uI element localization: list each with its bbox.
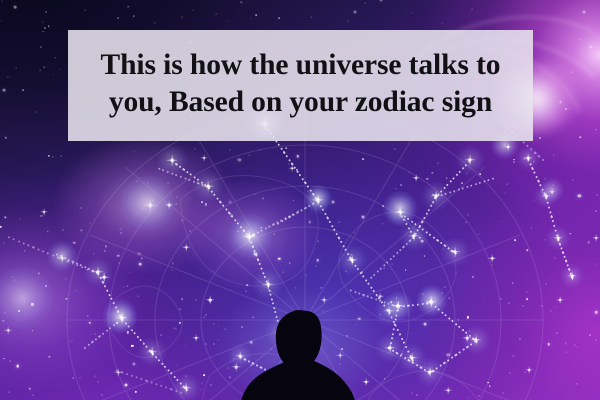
- star-dot: [175, 329, 176, 330]
- star-sparkle: [164, 200, 174, 210]
- star-glow: [384, 292, 413, 321]
- star-dot: [471, 9, 472, 10]
- star-dot: [447, 353, 450, 356]
- star-dot: [62, 230, 63, 231]
- star-dot: [455, 272, 456, 273]
- star-dot: [396, 297, 398, 299]
- star-sparkle: [205, 295, 215, 305]
- star-dot: [472, 276, 474, 278]
- constellation-line: [389, 348, 430, 374]
- title-card-overlay: This is how the universe talks to you, B…: [68, 30, 533, 141]
- star-sparkle: [541, 191, 551, 201]
- star-glow: [417, 288, 446, 317]
- star-dot: [4, 243, 5, 244]
- star-glow: [417, 285, 447, 315]
- star-dot: [384, 267, 385, 268]
- star-dot: [501, 221, 502, 222]
- star-sparkle: [553, 233, 563, 243]
- star-dot: [201, 389, 202, 390]
- star-dot: [540, 113, 541, 114]
- star-sparkle: [525, 366, 533, 374]
- star-dot: [238, 158, 241, 161]
- star-dot: [137, 180, 138, 181]
- star-dot: [5, 313, 6, 314]
- star-dot: [379, 314, 380, 315]
- star-dot: [180, 308, 181, 309]
- star-dot: [104, 250, 106, 252]
- star-dot: [126, 285, 127, 286]
- star-glow: [138, 338, 167, 367]
- star-dot: [467, 215, 468, 216]
- star-dot: [468, 398, 469, 399]
- star-dot: [479, 395, 480, 396]
- star-dot: [250, 341, 253, 344]
- star-dot: [503, 392, 504, 393]
- star-dot: [416, 394, 418, 396]
- star-sparkle: [312, 194, 324, 206]
- star-dot: [541, 305, 542, 306]
- star-dot: [253, 317, 254, 318]
- star-dot: [181, 220, 182, 221]
- star-dot: [579, 137, 580, 138]
- star-glow: [228, 214, 272, 258]
- star-dot: [341, 348, 343, 350]
- star-glow: [400, 222, 429, 251]
- star-dot: [247, 284, 249, 286]
- star-dot: [40, 215, 42, 217]
- star-sparkle: [339, 393, 349, 400]
- star-dot: [134, 151, 135, 152]
- star-dot: [7, 77, 8, 78]
- star-dot: [578, 194, 581, 197]
- star-dot: [127, 6, 129, 8]
- star-dot: [346, 335, 348, 337]
- star-dot: [570, 107, 571, 108]
- star-dot: [254, 252, 257, 255]
- constellation-line: [435, 160, 470, 197]
- star-dot: [595, 210, 597, 212]
- star-sparkle: [392, 300, 404, 312]
- star-dot: [582, 10, 585, 13]
- star-dot: [116, 322, 118, 324]
- star-dot: [240, 2, 241, 3]
- star-glow: [546, 226, 570, 250]
- star-sparkle: [200, 154, 208, 162]
- star-dot: [205, 203, 207, 205]
- star-dot: [302, 334, 304, 336]
- star-sparkle: [57, 253, 68, 264]
- star-dot: [230, 149, 231, 150]
- star-sparkle: [289, 165, 296, 172]
- star-dot: [589, 46, 592, 49]
- star-dot: [308, 221, 311, 224]
- star-dot: [248, 154, 249, 155]
- star-dot: [48, 25, 50, 27]
- star-dot: [508, 303, 509, 304]
- star-sparkle: [408, 230, 420, 242]
- star-dot: [310, 314, 311, 315]
- star-dot: [351, 254, 352, 255]
- star-dot: [361, 271, 363, 273]
- star-dot: [238, 230, 239, 231]
- star-glow: [252, 268, 283, 299]
- star-dot: [12, 276, 13, 277]
- star-dot: [29, 387, 31, 389]
- star-sparkle: [346, 254, 358, 266]
- star-dot: [526, 292, 527, 293]
- star-dot: [172, 270, 173, 271]
- star-dot: [176, 365, 177, 366]
- star-sparkle: [470, 334, 482, 346]
- star-dot: [595, 311, 598, 314]
- star-dot: [469, 330, 471, 332]
- star-sparkle: [444, 386, 453, 395]
- star-dot: [147, 182, 148, 183]
- star-glow: [376, 334, 405, 363]
- star-dot: [195, 299, 196, 300]
- star-dot: [10, 361, 11, 362]
- star-dot: [296, 155, 299, 158]
- star-sparkle: [406, 352, 418, 364]
- star-glow: [304, 186, 333, 215]
- star-dot: [117, 255, 119, 257]
- star-dot: [246, 291, 247, 292]
- star-dot: [571, 71, 573, 73]
- star-dot: [587, 241, 589, 243]
- star-dot: [210, 385, 211, 386]
- star-dot: [66, 298, 67, 299]
- star-glow: [540, 178, 564, 202]
- star-dot: [31, 303, 33, 305]
- star-dot: [73, 242, 76, 245]
- star-dot: [380, 0, 383, 2]
- star-dot: [263, 390, 265, 392]
- star-dot: [189, 231, 190, 232]
- star-dot: [45, 11, 47, 13]
- star-dot: [433, 194, 435, 196]
- star-dot: [310, 17, 311, 18]
- constellation-line: [280, 333, 297, 382]
- star-dot: [550, 311, 551, 312]
- star-dot: [3, 88, 6, 91]
- star-dot: [394, 290, 395, 291]
- constellation-line: [240, 356, 293, 384]
- constellation-line: [351, 260, 390, 312]
- star-glow: [422, 182, 451, 211]
- star-dot: [126, 331, 128, 333]
- star-dot: [295, 287, 296, 288]
- star-sparkle: [425, 296, 437, 308]
- star-dot: [358, 317, 360, 319]
- star-glow: [47, 241, 77, 271]
- star-sparkle: [243, 230, 256, 243]
- star-dot: [185, 344, 186, 345]
- star-sparkle: [114, 368, 123, 377]
- star-dot: [47, 231, 48, 232]
- star-dot: [519, 338, 520, 339]
- star-dot: [66, 279, 67, 280]
- star-dot: [322, 310, 323, 311]
- star-sparkle: [92, 266, 104, 278]
- star-sparkle: [116, 312, 128, 324]
- star-dot: [229, 201, 232, 204]
- star-dot: [411, 12, 412, 13]
- constellation-line: [430, 302, 476, 342]
- star-dot: [4, 137, 6, 139]
- star-dot: [597, 194, 598, 195]
- star-sparkle: [567, 271, 577, 281]
- star-dot: [354, 231, 355, 232]
- star-glow: [233, 220, 264, 251]
- star-dot: [438, 163, 439, 164]
- star-sparkle: [313, 195, 324, 206]
- star-dot: [348, 21, 349, 22]
- star-dot: [203, 317, 204, 318]
- star-dot: [241, 326, 243, 328]
- constellation-line: [398, 302, 431, 308]
- star-dot: [317, 259, 320, 262]
- star-dot: [133, 15, 134, 16]
- star-dot: [533, 200, 534, 201]
- star-dot: [118, 263, 119, 264]
- star-glow: [375, 297, 404, 326]
- constellation-line: [388, 312, 413, 360]
- constellation-line: [249, 214, 293, 238]
- star-dot: [138, 252, 142, 256]
- star-dot: [81, 230, 82, 231]
- star-dot: [321, 287, 322, 288]
- star-dot: [569, 233, 571, 235]
- star-dot: [216, 13, 217, 14]
- constellation-line: [267, 285, 282, 334]
- star-sparkle: [348, 256, 357, 265]
- star-sparkle: [548, 188, 556, 196]
- star-dot: [426, 177, 428, 179]
- star-dot: [442, 23, 443, 24]
- star-dot: [565, 342, 566, 343]
- star-dot: [32, 395, 33, 396]
- star-dot: [364, 2, 365, 3]
- star-dot: [124, 287, 125, 288]
- star-dot: [131, 345, 133, 347]
- star-dot: [201, 201, 203, 203]
- star-dot: [32, 330, 34, 332]
- star-dot: [38, 273, 39, 274]
- star-sparkle: [362, 378, 370, 386]
- constellation-line: [58, 254, 99, 274]
- star-dot: [186, 376, 187, 377]
- star-dot: [432, 172, 433, 173]
- star-glow: [384, 292, 413, 321]
- star-dot: [195, 148, 196, 149]
- star-dot: [409, 172, 410, 173]
- star-dot: [291, 381, 294, 384]
- star-dot: [143, 341, 144, 342]
- star-dot: [139, 263, 142, 266]
- constellation-line: [207, 186, 250, 237]
- constellation-line: [171, 160, 208, 188]
- star-dot: [565, 351, 566, 352]
- star-sparkle: [425, 296, 437, 308]
- star-dot: [205, 344, 206, 345]
- star-glow: [103, 299, 137, 333]
- star-dot: [121, 209, 122, 210]
- star-dot: [250, 364, 252, 366]
- star-dot: [52, 156, 53, 157]
- star-glow: [265, 316, 296, 347]
- star-dot: [340, 363, 341, 364]
- star-dot: [339, 221, 340, 222]
- star-dot: [15, 68, 16, 69]
- star-sparkle: [180, 382, 192, 394]
- constellation-line: [151, 352, 186, 389]
- star-dot: [574, 344, 575, 345]
- star-dot: [278, 257, 281, 260]
- star-dot: [307, 190, 308, 191]
- constellation-line: [97, 273, 123, 320]
- star-dot: [218, 326, 219, 327]
- star-dot: [262, 198, 263, 199]
- star-glow: [338, 246, 367, 275]
- star-dot: [40, 70, 41, 71]
- star-dot: [526, 298, 528, 300]
- star-dot: [553, 155, 554, 156]
- star-dot: [554, 257, 555, 258]
- star-sparkle: [202, 180, 215, 193]
- star-dot: [248, 235, 251, 238]
- star-glow: [280, 370, 304, 394]
- star-sparkle: [449, 246, 461, 258]
- star-dot: [97, 381, 98, 382]
- star-sparkle: [336, 351, 345, 360]
- star-glow: [462, 326, 491, 355]
- star-dot: [75, 290, 76, 291]
- star-dot: [286, 147, 288, 149]
- star-glow: [383, 191, 417, 225]
- star-glow: [84, 258, 113, 287]
- constellation-line: [85, 318, 122, 348]
- star-dot: [172, 263, 173, 264]
- star-glow: [441, 238, 470, 267]
- star-dot: [81, 208, 82, 209]
- star-sparkle: [290, 374, 303, 387]
- star-dot: [391, 264, 392, 265]
- star-dot: [595, 129, 597, 131]
- constellation-line: [279, 200, 319, 224]
- star-dot: [206, 315, 207, 316]
- star-dot: [489, 386, 490, 387]
- star-dot: [590, 63, 591, 64]
- star-glow: [305, 185, 331, 211]
- cosmic-graphic-canvas: This is how the universe talks to you, B…: [0, 0, 600, 400]
- star-sparkle: [98, 271, 111, 284]
- constellation-line: [371, 236, 414, 277]
- star-dot: [3, 358, 5, 360]
- star-sparkle: [383, 305, 395, 317]
- star-dot: [362, 158, 364, 160]
- star-dot: [61, 156, 62, 157]
- star-glow: [280, 364, 311, 395]
- star-dot: [278, 18, 280, 20]
- star-dot: [443, 249, 444, 250]
- star-dot: [181, 159, 182, 160]
- star-dot: [129, 272, 130, 273]
- star-dot: [17, 320, 18, 321]
- star-dot: [402, 226, 403, 227]
- star-dot: [547, 343, 550, 346]
- star-dot: [522, 306, 523, 307]
- star-glow: [108, 304, 137, 333]
- star-dot: [544, 240, 545, 241]
- star-dot: [49, 356, 50, 357]
- star-dot: [87, 315, 88, 316]
- star-dot: [14, 279, 15, 280]
- star-dot: [153, 199, 154, 200]
- star-dot: [85, 10, 86, 11]
- star-sparkle: [320, 296, 328, 304]
- star-dot: [95, 376, 96, 377]
- star-sparkle: [258, 388, 266, 396]
- star-sparkle: [592, 234, 600, 242]
- star-dot: [346, 273, 347, 274]
- star-sparkle: [384, 342, 396, 354]
- star-dot: [193, 10, 194, 11]
- star-dot: [261, 228, 262, 229]
- star-dot: [141, 258, 142, 259]
- star-dot: [80, 377, 81, 378]
- constellation-line: [292, 382, 345, 400]
- star-dot: [577, 347, 578, 348]
- star-glow: [121, 176, 175, 230]
- constellation-line: [557, 239, 573, 278]
- star-dot: [589, 335, 591, 337]
- star-dot: [461, 182, 463, 184]
- star-dot: [512, 282, 514, 284]
- star-sparkle: [235, 351, 245, 361]
- star-sparkle: [376, 292, 385, 301]
- star-dot: [0, 226, 2, 228]
- star-dot: [252, 234, 254, 236]
- star-dot: [448, 297, 449, 298]
- star-dot: [89, 321, 91, 323]
- star-dot: [270, 348, 271, 349]
- star-dot: [362, 215, 365, 218]
- star-sparkle: [4, 326, 13, 335]
- star-dot: [255, 194, 257, 196]
- star-dot: [478, 234, 479, 235]
- star-sparkle: [504, 143, 512, 151]
- star-dot: [394, 149, 395, 150]
- star-dot: [213, 271, 214, 272]
- star-dot: [161, 335, 162, 336]
- star-dot: [173, 327, 174, 328]
- star-dot: [526, 250, 527, 251]
- star-dot: [137, 295, 138, 296]
- star-dot: [533, 161, 534, 162]
- star-dot: [395, 188, 396, 189]
- star-dot: [201, 383, 202, 384]
- star-dot: [400, 184, 402, 186]
- star-dot: [2, 1, 3, 2]
- star-glow: [560, 264, 584, 288]
- star-dot: [525, 372, 526, 373]
- star-dot: [467, 316, 469, 318]
- star-sparkle: [464, 154, 476, 166]
- star-dot: [16, 364, 19, 367]
- star-dot: [595, 263, 596, 264]
- star-dot: [154, 22, 155, 23]
- star-dot: [71, 340, 72, 341]
